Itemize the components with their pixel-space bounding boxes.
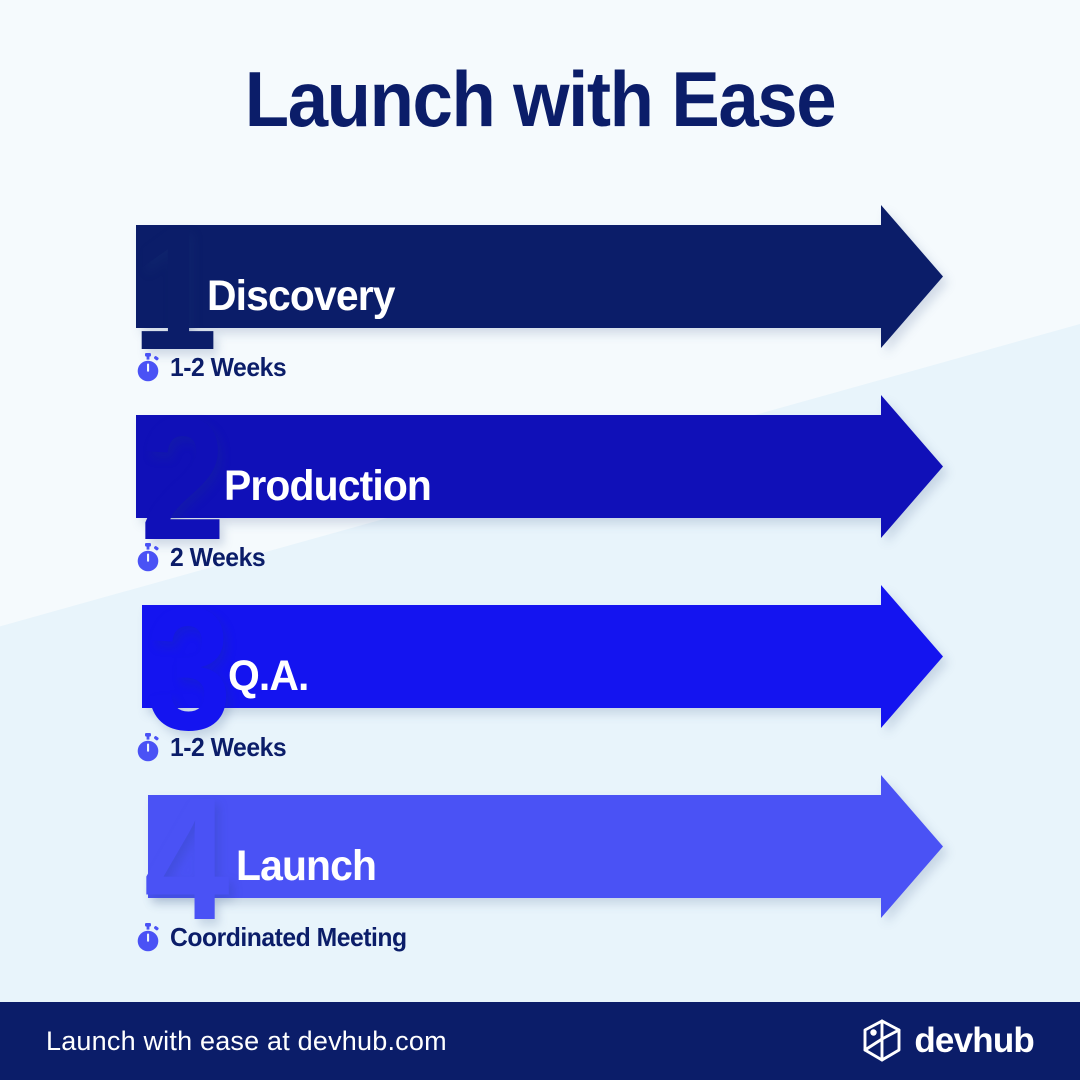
stopwatch-icon	[135, 923, 161, 952]
footer-bar: Launch with ease at devhub.com devhub	[0, 1002, 1080, 1080]
step-duration-text-4: Coordinated Meeting	[170, 922, 407, 953]
step-number-4: 4	[144, 772, 222, 947]
step-label-2: Production	[224, 462, 431, 511]
step-duration-1: 1-2 Weeks	[135, 352, 292, 383]
stopwatch-icon	[135, 543, 161, 572]
stopwatch-icon	[135, 353, 161, 382]
brand-lockup: devhub	[860, 1018, 1034, 1065]
step-label-1: Discovery	[207, 272, 395, 321]
step-number-3: 3	[146, 582, 224, 757]
step-duration-text-3: 1-2 Weeks	[170, 732, 286, 763]
page-title: Launch with Ease	[38, 54, 1042, 145]
step-duration-text-2: 2 Weeks	[170, 542, 265, 573]
infographic-canvas: Launch with Ease 1 Discovery 1-2 Weeks	[0, 0, 1080, 1080]
step-label-4: Launch	[236, 842, 376, 891]
stopwatch-icon	[135, 733, 161, 762]
cube-logo-icon	[860, 1018, 904, 1065]
brand-name: devhub	[914, 1021, 1034, 1061]
step-duration-4: Coordinated Meeting	[135, 922, 419, 953]
step-duration-2: 2 Weeks	[135, 542, 270, 573]
step-duration-3: 1-2 Weeks	[135, 732, 292, 763]
step-duration-text-1: 1-2 Weeks	[170, 352, 286, 383]
step-number-2: 2	[140, 392, 218, 567]
step-number-1: 1	[132, 202, 210, 377]
footer-text: Launch with ease at devhub.com	[46, 1026, 447, 1057]
step-label-3: Q.A.	[228, 652, 309, 701]
